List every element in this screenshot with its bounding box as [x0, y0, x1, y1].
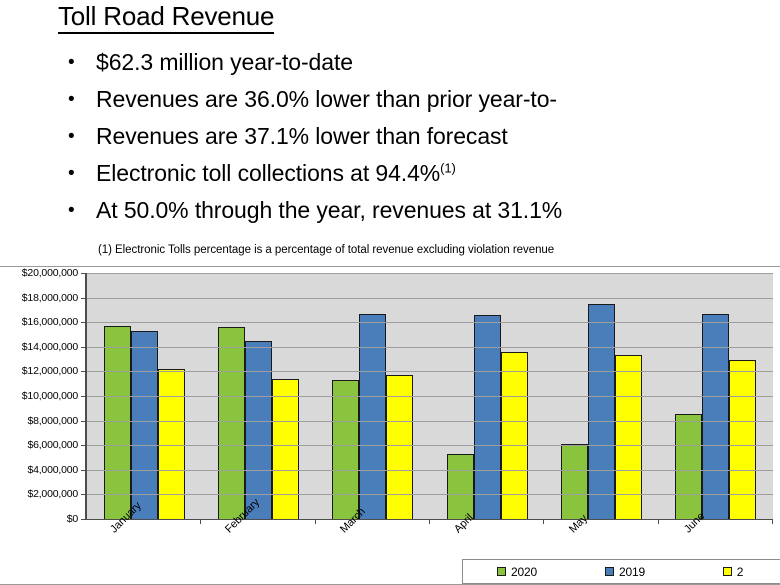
y-tick-mark: [81, 470, 87, 471]
bar-chart: $20,000,000$18,000,000$16,000,000$14,000…: [0, 266, 780, 585]
bullet-glyph: •: [68, 155, 75, 192]
bar[interactable]: [131, 331, 158, 519]
footnote-text: (1) Electronic Tolls percentage is a per…: [98, 243, 554, 258]
slide-header: Toll Road Revenue • $62.3 million year-t…: [0, 0, 780, 266]
y-tick-label: $6,000,000: [27, 440, 78, 450]
y-tick-label: $8,000,000: [27, 416, 78, 426]
bullet-glyph: •: [68, 81, 75, 118]
y-tick-label: $12,000,000: [22, 366, 78, 376]
y-tick-label: $10,000,000: [22, 391, 78, 401]
bullet-glyph: •: [68, 118, 75, 155]
gridline: [87, 347, 773, 348]
y-tick-mark: [81, 396, 87, 397]
gridline: [87, 470, 773, 471]
y-tick-label: $14,000,000: [22, 342, 78, 352]
bullet-item: • Revenues are 36.0% lower than prior ye…: [62, 81, 780, 118]
gridline: [87, 396, 773, 397]
legend-item[interactable]: 2020: [463, 565, 571, 579]
bar[interactable]: [675, 414, 702, 519]
y-tick-mark: [81, 347, 87, 348]
bullet-text: Revenues are 37.1% lower than forecast: [96, 123, 508, 149]
legend-item[interactable]: 2: [679, 565, 780, 579]
y-tick-label: $18,000,000: [22, 293, 78, 303]
bar[interactable]: [332, 380, 359, 519]
bar[interactable]: [561, 444, 588, 519]
legend-swatch-icon: [605, 567, 614, 576]
bullet-glyph: •: [68, 44, 75, 81]
y-tick-mark: [81, 298, 87, 299]
y-tick-mark: [81, 371, 87, 372]
y-tick-label: $20,000,000: [22, 268, 78, 278]
bullet-item: • At 50.0% through the year, revenues at…: [62, 192, 780, 229]
x-label-cell: January: [85, 523, 200, 567]
gridline: [87, 371, 773, 372]
bullet-item: • $62.3 million year-to-date: [62, 44, 780, 81]
y-tick-mark: [81, 273, 87, 274]
bullet-text: Revenues are 36.0% lower than prior year…: [96, 86, 557, 112]
bullet-text: Electronic toll collections at 94.4%: [96, 160, 440, 186]
y-tick-label: $2,000,000: [27, 489, 78, 499]
legend-label: 2020: [511, 565, 537, 579]
gridline: [87, 273, 773, 274]
y-tick-mark: [81, 421, 87, 422]
bar[interactable]: [218, 327, 245, 519]
y-tick-label: $0: [67, 514, 78, 524]
bullet-item: • Electronic toll collections at 94.4%(1…: [62, 155, 780, 192]
y-tick-mark: [81, 494, 87, 495]
bar[interactable]: [702, 314, 729, 519]
page-title: Toll Road Revenue: [58, 1, 274, 34]
y-tick-label: $4,000,000: [27, 465, 78, 475]
legend-swatch-icon: [723, 567, 732, 576]
bar[interactable]: [104, 326, 131, 519]
bar[interactable]: [245, 341, 272, 519]
y-tick-mark: [81, 322, 87, 323]
footnote-marker: (1): [440, 160, 456, 175]
bar[interactable]: [158, 369, 185, 519]
y-tick-label: $16,000,000: [22, 317, 78, 327]
x-label-cell: February: [200, 523, 315, 567]
gridline: [87, 322, 773, 323]
gridline: [87, 494, 773, 495]
bullet-list: • $62.3 million year-to-date • Revenues …: [62, 44, 780, 229]
y-axis: $20,000,000$18,000,000$16,000,000$14,000…: [0, 267, 82, 520]
y-tick-mark: [81, 445, 87, 446]
bar[interactable]: [272, 379, 299, 519]
bullet-text: At 50.0% through the year, revenues at 3…: [96, 197, 562, 223]
gridline: [87, 298, 773, 299]
y-tick-mark: [81, 519, 87, 520]
plot-area: [85, 273, 773, 520]
gridline: [87, 421, 773, 422]
gridline: [87, 445, 773, 446]
bullet-text: $62.3 million year-to-date: [96, 49, 353, 75]
legend-swatch-icon: [497, 567, 506, 576]
bar[interactable]: [474, 315, 501, 519]
legend-label: 2: [737, 565, 743, 579]
legend-label: 2019: [619, 565, 645, 579]
bar[interactable]: [447, 454, 474, 519]
x-label-cell: March: [314, 523, 429, 567]
chart-legend: 202020192: [462, 559, 780, 584]
bullet-glyph: •: [68, 192, 75, 229]
bar[interactable]: [588, 304, 615, 519]
bar[interactable]: [359, 314, 386, 519]
bullet-item: • Revenues are 37.1% lower than forecast: [62, 118, 780, 155]
legend-item[interactable]: 2019: [571, 565, 679, 579]
